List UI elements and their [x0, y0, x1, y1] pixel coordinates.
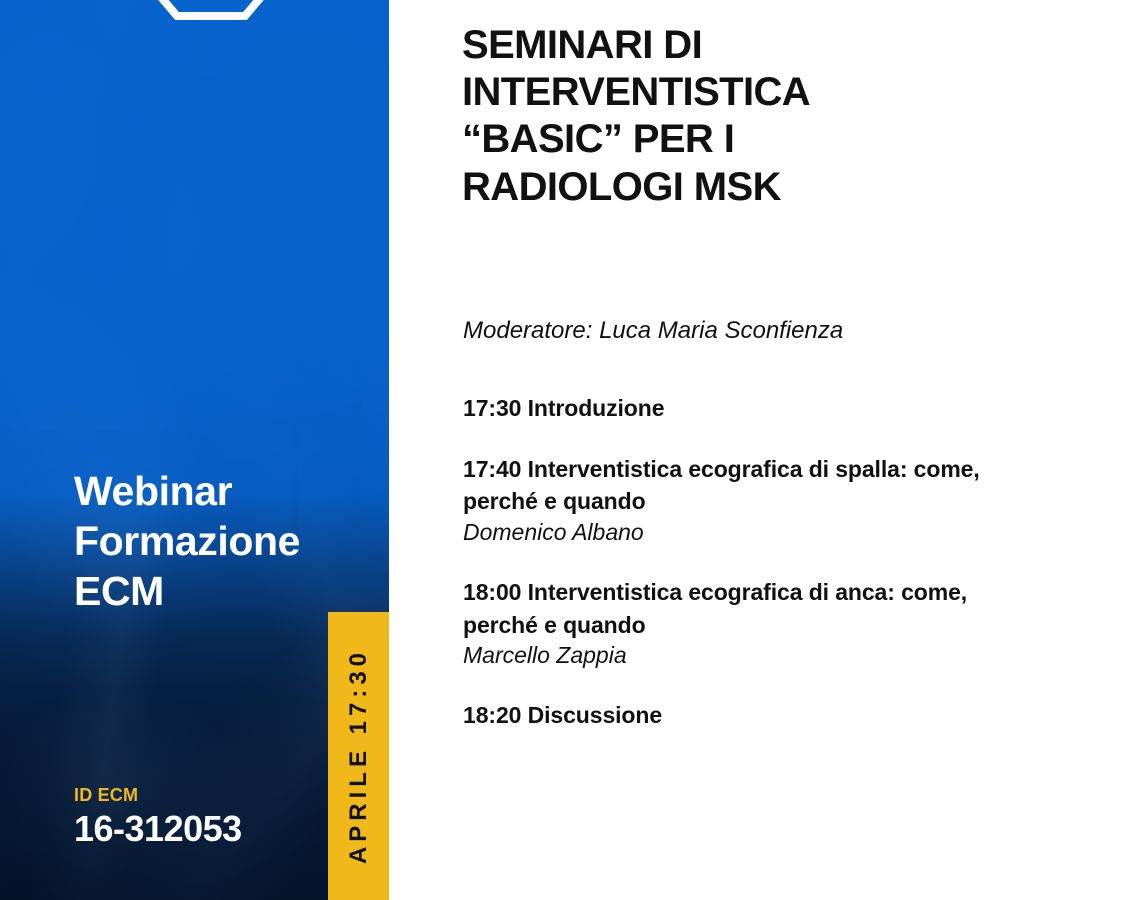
- date-band: APRILE 17:30: [328, 612, 389, 900]
- webinar-title-line-1: Webinar: [74, 466, 374, 516]
- schedule-item-speaker: Domenico Albano: [463, 518, 1023, 548]
- content-area: SEMINARI DI INTERVENTISTICA “BASIC” PER …: [462, 0, 1102, 900]
- webinar-title-line-3: ECM: [74, 566, 374, 616]
- poster-root: Webinar Formazione ECM ID ECM 16-312053 …: [0, 0, 1140, 900]
- schedule-item: 18:00 Interventistica ecografica di anca…: [463, 576, 1023, 671]
- schedule-item-speaker: Marcello Zappia: [463, 641, 1023, 671]
- id-ecm-block: ID ECM 16-312053: [74, 786, 354, 849]
- schedule-item-title: 18:00 Interventistica ecografica di anca…: [463, 576, 1023, 641]
- webinar-title-line-2: Formazione: [74, 516, 374, 566]
- hexagon-logo: [145, 0, 277, 22]
- id-ecm-label: ID ECM: [74, 786, 354, 806]
- schedule-item-title: 17:40 Interventistica ecografica di spal…: [463, 453, 1023, 518]
- schedule-item: 18:20 Discussione: [463, 699, 1023, 732]
- schedule-item: 17:30 Introduzione: [463, 392, 1023, 425]
- webinar-title: Webinar Formazione ECM: [74, 466, 374, 616]
- schedule-item-title: 18:20 Discussione: [463, 699, 1023, 732]
- schedule-item-title: 17:30 Introduzione: [463, 392, 1023, 425]
- schedule-list: 17:30 Introduzione 17:40 Interventistica…: [463, 392, 1023, 732]
- id-ecm-value: 16-312053: [74, 808, 354, 849]
- page-title: SEMINARI DI INTERVENTISTICA “BASIC” PER …: [462, 22, 932, 211]
- schedule-item: 17:40 Interventistica ecografica di spal…: [463, 453, 1023, 548]
- date-band-text: APRILE 17:30: [345, 648, 373, 864]
- moderator-line: Moderatore: Luca Maria Sconfienza: [463, 316, 843, 346]
